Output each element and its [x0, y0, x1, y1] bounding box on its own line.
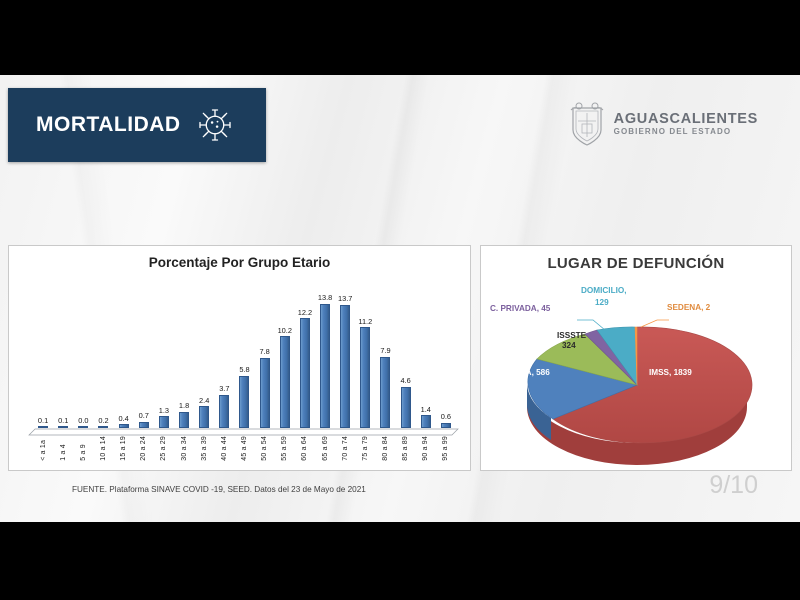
x-tick-label: 25 a 29: [160, 436, 167, 461]
bar-series: 0.10.10.00.20.40.71.31.82.43.75.87.810.2…: [33, 280, 456, 428]
government-logo: AGUASCALIENTES GOBIERNO DEL ESTADO: [569, 102, 758, 146]
x-tick: 90 a 94: [416, 436, 436, 461]
x-tick-label: 80 a 84: [382, 436, 389, 461]
bar-value-label: 0.2: [98, 416, 108, 425]
bar-column: [219, 395, 229, 428]
logo-line2: GOBIERNO DEL ESTADO: [614, 128, 758, 136]
x-tick-label: 65 a 69: [322, 436, 329, 461]
x-tick: 75 a 79: [355, 436, 375, 461]
x-tick: 40 a 44: [214, 436, 234, 461]
x-tick: 55 a 59: [275, 436, 295, 461]
x-tick: 30 a 34: [174, 436, 194, 461]
x-tick: 20 a 24: [134, 436, 154, 461]
x-tick: 5 a 9: [73, 436, 93, 461]
x-tick: 95 a 99: [436, 436, 456, 461]
x-tick-label: 15 a 19: [120, 436, 127, 461]
leader-line-domicilio: [577, 320, 605, 330]
x-tick-label: 60 a 64: [301, 436, 308, 461]
x-tick: < a 1a: [33, 436, 53, 461]
bar-item: 2.4: [194, 280, 214, 428]
bar-column: [159, 416, 169, 428]
bar-item: 0.1: [33, 280, 53, 428]
bar-item: 5.8: [234, 280, 254, 428]
pie-label-sedena: SEDENA, 2: [667, 303, 710, 312]
bar-chart-title: Porcentaje Por Grupo Etario: [9, 255, 470, 270]
bar-column: [280, 336, 290, 428]
x-tick: 70 a 74: [335, 436, 355, 461]
x-tick: 80 a 84: [375, 436, 395, 461]
bar-column: [239, 376, 249, 428]
bar-value-label: 0.6: [441, 412, 451, 421]
x-tick-label: 35 a 39: [201, 436, 208, 461]
bar-item: 1.3: [154, 280, 174, 428]
x-tick-label: 40 a 44: [221, 436, 228, 461]
slide-canvas: MORTALIDAD: [0, 75, 800, 522]
logo-line1: AGUASCALIENTES: [614, 112, 758, 127]
bar-value-label: 1.8: [179, 401, 189, 410]
pie-label-issste-value: 324: [562, 341, 576, 350]
bar-item: 7.8: [255, 280, 275, 428]
x-tick: 35 a 39: [194, 436, 214, 461]
pie-label-imss: IMSS, 1839: [649, 368, 692, 377]
aguascalientes-crest-icon: [569, 102, 605, 146]
bar-item: 11.2: [355, 280, 375, 428]
bar-item: 1.4: [416, 280, 436, 428]
bar-value-label: 0.0: [78, 416, 88, 425]
bar-item: 13.7: [335, 280, 355, 428]
source-note: FUENTE. Plataforma SINAVE COVID -19, SEE…: [72, 485, 366, 494]
bar-item: 4.6: [396, 280, 416, 428]
bar-value-label: 4.6: [400, 376, 410, 385]
x-tick: 15 a 19: [114, 436, 134, 461]
bar-item: 0.4: [114, 280, 134, 428]
bar-item: 1.8: [174, 280, 194, 428]
bar-value-label: 11.2: [358, 317, 372, 326]
bar-column: [401, 387, 411, 428]
x-tick-label: 30 a 34: [181, 436, 188, 461]
bar-column: [340, 305, 350, 428]
x-tick: 25 a 29: [154, 436, 174, 461]
bar-item: 12.2: [295, 280, 315, 428]
bar-column: [421, 415, 431, 428]
pie-label-cprivada: C. PRIVADA, 45: [490, 304, 550, 313]
page-number: 9/10: [709, 471, 758, 500]
pie-label-issste: ISSSTE: [557, 331, 586, 340]
coronavirus-icon: [195, 105, 235, 145]
bar-column: [179, 412, 189, 428]
x-tick-label: 10 a 14: [100, 436, 107, 461]
leader-line-sedena: [641, 320, 669, 327]
x-axis-tick-labels: < a 1a1 a 45 a 910 a 1415 a 1920 a 2425 …: [33, 436, 456, 461]
bar-item: 0.1: [53, 280, 73, 428]
bar-value-label: 0.4: [118, 414, 128, 423]
bar-value-label: 13.7: [338, 294, 352, 303]
bar-column: [320, 304, 330, 428]
bar-item: 0.0: [73, 280, 93, 428]
bar-value-label: 7.8: [259, 347, 269, 356]
pie-label-domicilio: DOMICILIO,: [581, 286, 626, 295]
bar-item: 13.8: [315, 280, 335, 428]
bar-value-label: 1.4: [421, 405, 431, 414]
bar-value-label: 7.9: [380, 346, 390, 355]
bar-value-label: 2.4: [199, 396, 209, 405]
bar-value-label: 0.1: [58, 416, 68, 425]
bar-column: [380, 357, 390, 428]
x-tick: 10 a 14: [93, 436, 113, 461]
x-tick: 1 a 4: [53, 436, 73, 461]
section-title-banner: MORTALIDAD: [8, 88, 266, 162]
bar-item: 10.2: [275, 280, 295, 428]
x-tick-label: 20 a 24: [140, 436, 147, 461]
x-tick-label: 95 a 99: [442, 436, 449, 461]
page-title: MORTALIDAD: [36, 113, 181, 137]
x-tick-label: 5 a 9: [80, 436, 87, 461]
bar-value-label: 0.1: [38, 416, 48, 425]
bar-value-label: 10.2: [278, 326, 292, 335]
x-tick-label: 45 a 49: [241, 436, 248, 461]
bar-chart-plot: 0.10.10.00.20.40.71.31.82.43.75.87.810.2…: [27, 280, 460, 466]
x-tick: 50 a 54: [255, 436, 275, 461]
x-tick: 65 a 69: [315, 436, 335, 461]
pie-chart-title: LUGAR DE DEFUNCIÓN: [481, 255, 791, 272]
x-tick-label: 1 a 4: [60, 436, 67, 461]
bar-item: 3.7: [214, 280, 234, 428]
pie-label-issea: ISSEA, 586: [507, 368, 550, 377]
bar-value-label: 0.7: [139, 411, 149, 420]
bar-column: [260, 358, 270, 428]
x-tick: 85 a 89: [396, 436, 416, 461]
pie-chart-panel: LUGAR DE DEFUNCIÓN: [480, 245, 792, 471]
pie-label-domicilio-value: 129: [595, 298, 609, 307]
bar-item: 0.7: [134, 280, 154, 428]
pie-chart-graphic: C. PRIVADA, 45 DOMICILIO, 129 SEDENA, 2 …: [481, 276, 793, 470]
bar-chart-panel: Porcentaje Por Grupo Etario 0.10.10.00.2…: [8, 245, 471, 471]
x-tick-label: 75 a 79: [362, 436, 369, 461]
bar-column: [199, 406, 209, 428]
x-tick: 60 a 64: [295, 436, 315, 461]
bar-item: 0.6: [436, 280, 456, 428]
bar-value-label: 1.3: [159, 406, 169, 415]
bar-value-label: 13.8: [318, 293, 332, 302]
logo-wordmark: AGUASCALIENTES GOBIERNO DEL ESTADO: [614, 112, 758, 137]
bar-value-label: 5.8: [239, 365, 249, 374]
bar-column: [300, 318, 310, 428]
bar-value-label: 3.7: [219, 384, 229, 393]
bar-column: [360, 327, 370, 428]
bar-value-label: 12.2: [298, 308, 312, 317]
x-tick-label: < a 1a: [40, 436, 47, 461]
bar-item: 0.2: [93, 280, 113, 428]
x-axis-line: [27, 428, 460, 436]
x-tick: 45 a 49: [234, 436, 254, 461]
x-tick-label: 55 a 59: [281, 436, 288, 461]
bar-item: 7.9: [375, 280, 395, 428]
x-tick-label: 50 a 54: [261, 436, 268, 461]
x-tick-label: 85 a 89: [402, 436, 409, 461]
x-tick-label: 70 a 74: [342, 436, 349, 461]
x-tick-label: 90 a 94: [422, 436, 429, 461]
